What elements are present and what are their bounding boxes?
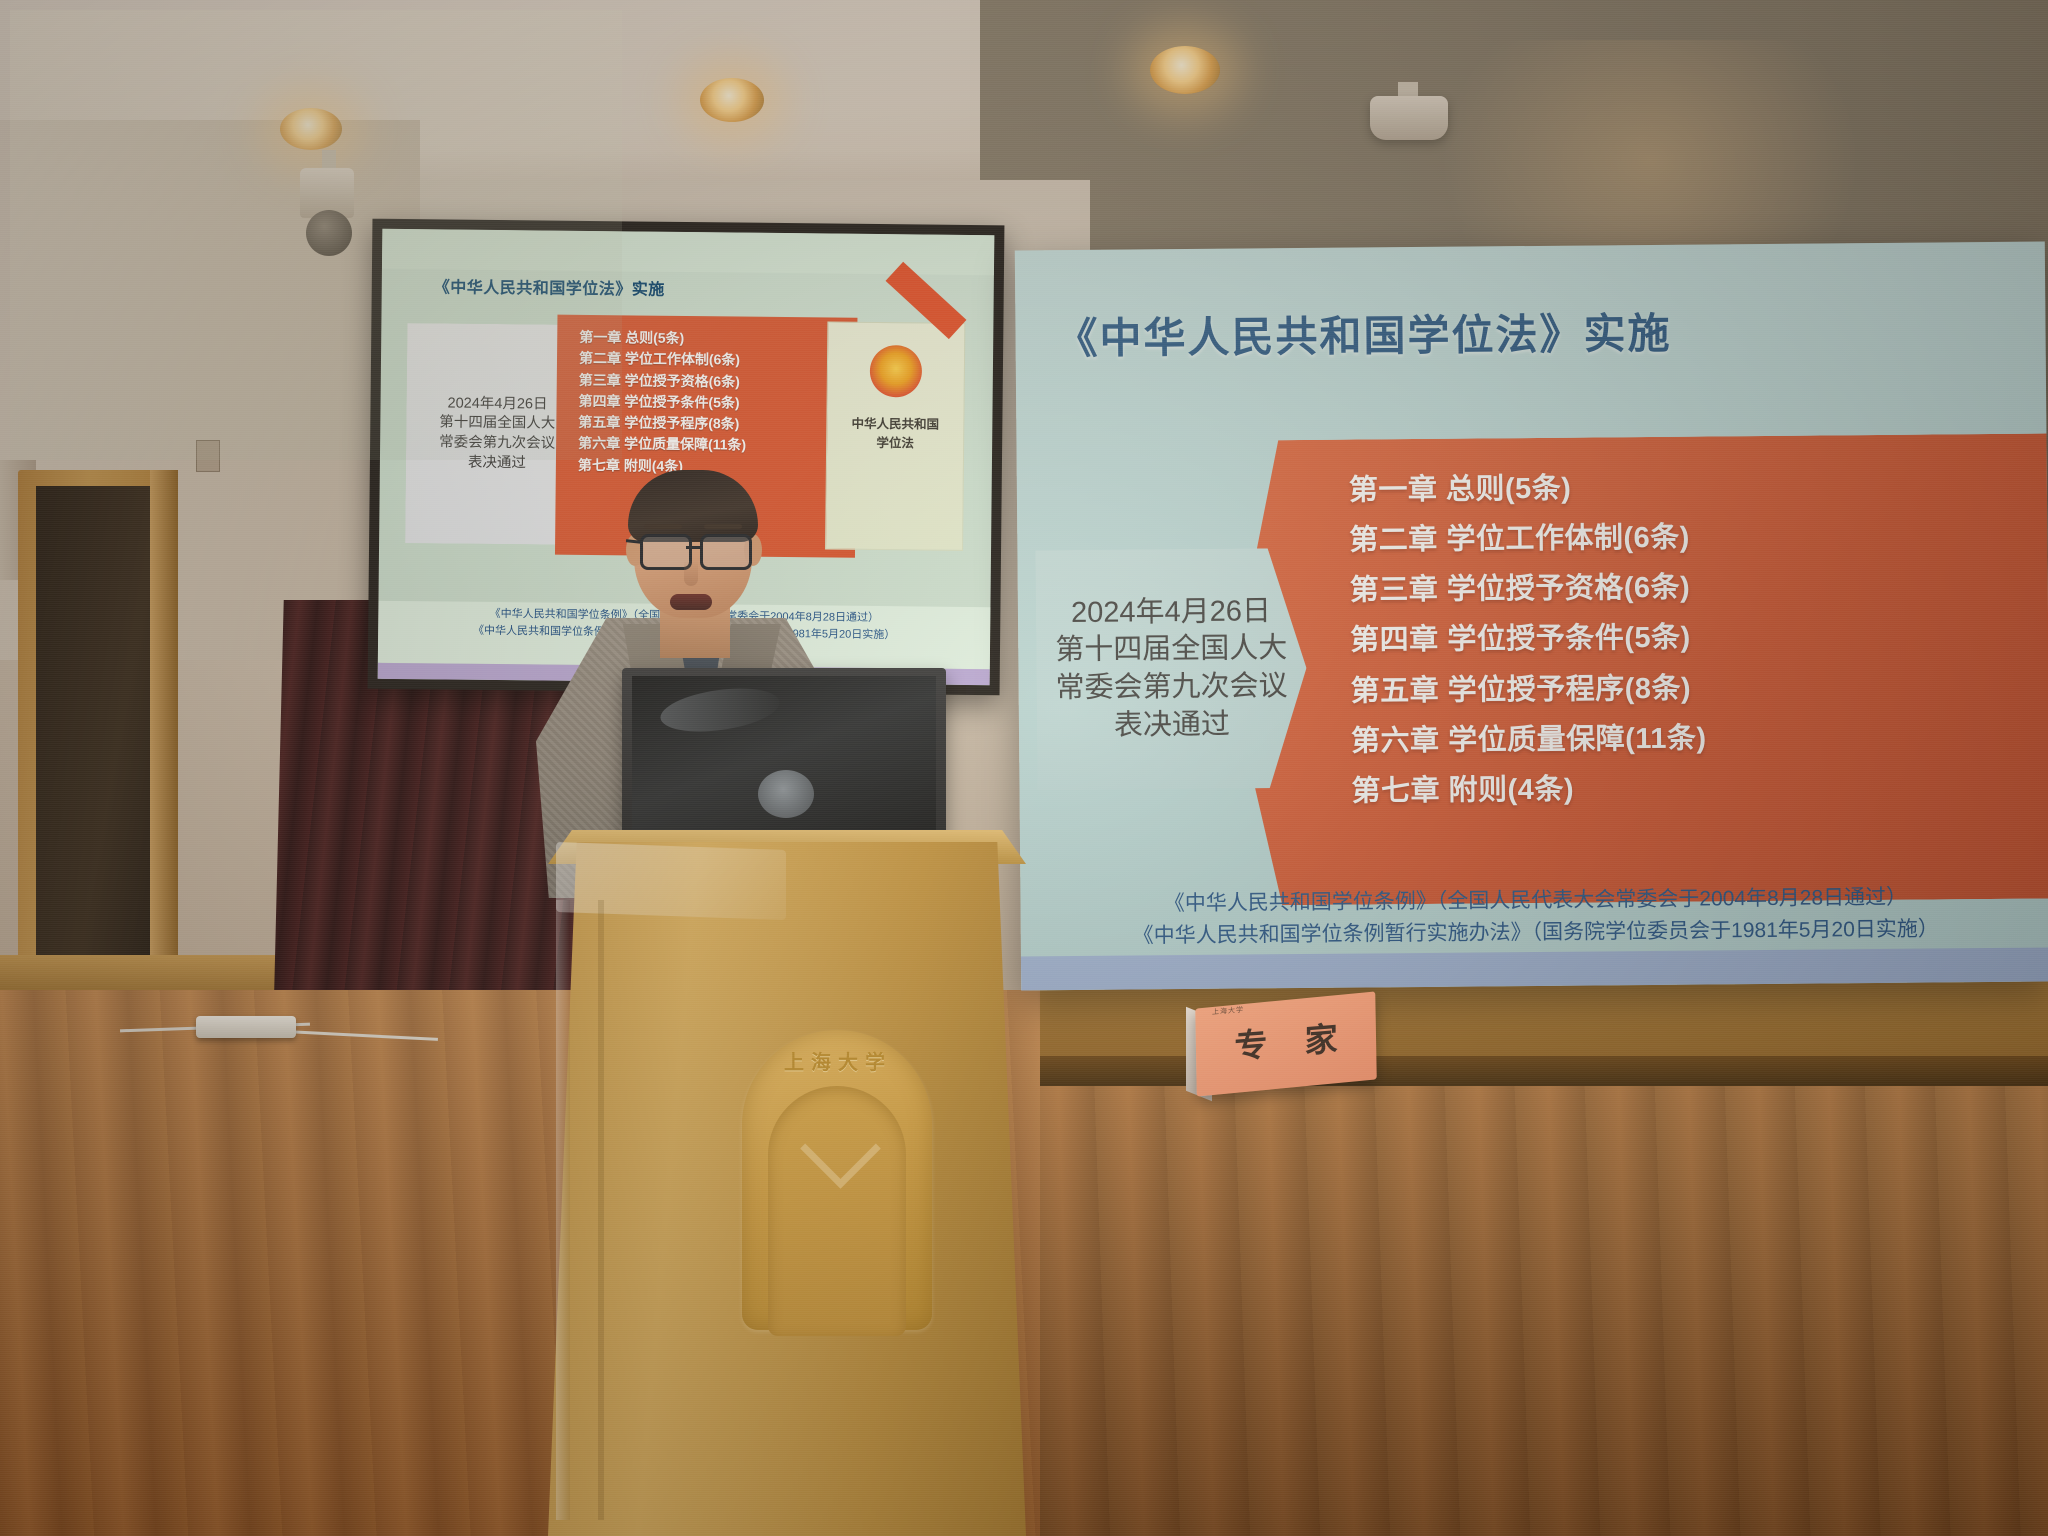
slide-right-title: 《中华人民共和国学位法》实施: [1055, 299, 1672, 365]
slide-right: 《中华人民共和国学位法》实施 第一章 总则(5条) 第二章 学位工作体制(6条)…: [1015, 242, 2048, 991]
podium-seam-2: [598, 900, 604, 1520]
speaker-eyebrow-right: [704, 524, 742, 529]
date-line: 第十四届全国人大: [1055, 632, 1287, 666]
slide-right-body: 第一章 总则(5条) 第二章 学位工作体制(6条) 第三章 学位授予资格(6条)…: [1016, 412, 2048, 991]
national-emblem-icon: [870, 345, 923, 398]
ceiling-spotlight-1: [280, 108, 342, 150]
list-item: 第一章 总则(5条): [1229, 459, 2048, 516]
list-item: 第三章 学位授予资格(6条): [557, 369, 857, 393]
ceiling-spotlight-2: [700, 78, 764, 122]
door-edge: [150, 470, 178, 990]
list-item: 第三章 学位授予资格(6条): [1230, 560, 2048, 617]
slide-right-footnotes: 《中华人民共和国学位条例》（全国人民代表大会常委会于2004年8月28日通过） …: [1020, 880, 2048, 954]
wall-switch-plate: [196, 440, 220, 472]
smoke-detector: [1370, 96, 1448, 140]
list-item: 第四章 学位授予条件(5条): [556, 390, 856, 414]
podium-seam: [556, 900, 570, 1520]
list-item: 第二章 学位工作体制(6条): [1229, 510, 2048, 567]
speaker-eyebrow-left: [644, 524, 682, 529]
book-title: 中华人民共和国学位法: [851, 415, 939, 453]
speaker-mouth: [670, 594, 712, 610]
list-item: 第七章 附则(4条): [1231, 760, 2048, 817]
list-item: 第六章 学位质量保障(11条): [556, 433, 856, 457]
slide-right-date-text: 2024年4月26日 第十四届全国人大 常委会第九次会议 表决通过: [1055, 593, 1288, 746]
slide-left-book-cover: 中华人民共和国学位法: [825, 321, 965, 550]
door-panel[interactable]: [36, 486, 160, 986]
list-item: 第五章 学位授予程序(8条): [556, 412, 856, 436]
slide-right-date-chevron: 2024年4月26日 第十四届全国人大 常委会第九次会议 表决通过: [1035, 548, 1307, 790]
security-camera-dome-icon: [306, 210, 352, 256]
date-line: 2024年4月26日: [1071, 595, 1271, 629]
date-line: 表决通过: [1114, 708, 1230, 741]
list-item: 第四章 学位授予条件(5条): [1230, 610, 2048, 667]
speaker-nose: [684, 560, 698, 586]
list-item: 第二章 学位工作体制(6条): [557, 348, 857, 372]
monitor-logo-icon: [758, 770, 814, 818]
date-line: 常委会第九次会议: [1055, 670, 1287, 704]
glasses-lens-right-icon: [700, 534, 752, 570]
projection-screen-right: 《中华人民共和国学位法》实施 第一章 总则(5条) 第二章 学位工作体制(6条)…: [1015, 242, 2048, 991]
list-item: 第六章 学位质量保障(11条): [1231, 710, 2048, 767]
power-strip[interactable]: [196, 1016, 296, 1038]
slide-right-header: 《中华人民共和国学位法》实施: [1015, 242, 2046, 421]
slide-left-chapter-list: 第一章 总则(5条) 第二章 学位工作体制(6条) 第三章 学位授予资格(6条)…: [556, 315, 858, 479]
glasses-bridge: [686, 546, 700, 549]
slide-right-chapter-panel: 第一章 总则(5条) 第二章 学位工作体制(6条) 第三章 学位授予资格(6条)…: [1228, 433, 2048, 905]
university-crest-label: 上海大学: [748, 1046, 928, 1075]
ceiling-spotlight-3: [1150, 46, 1220, 94]
presentation-scene: 《中华人民共和国学位法》实施 2024年4月26日第十四届全国人大常委会第九次会…: [0, 0, 2048, 1536]
slide-right-chapter-list: 第一章 总则(5条) 第二章 学位工作体制(6条) 第三章 学位授予资格(6条)…: [1228, 433, 2048, 817]
list-item: 第五章 学位授予程序(8条): [1230, 660, 2048, 717]
stage-front-shading: [1040, 1086, 2048, 1536]
slide-left-date-text: 2024年4月26日第十四届全国人大常委会第九次会议表决通过: [439, 394, 556, 473]
podium-plastic-wrap: [556, 842, 786, 920]
